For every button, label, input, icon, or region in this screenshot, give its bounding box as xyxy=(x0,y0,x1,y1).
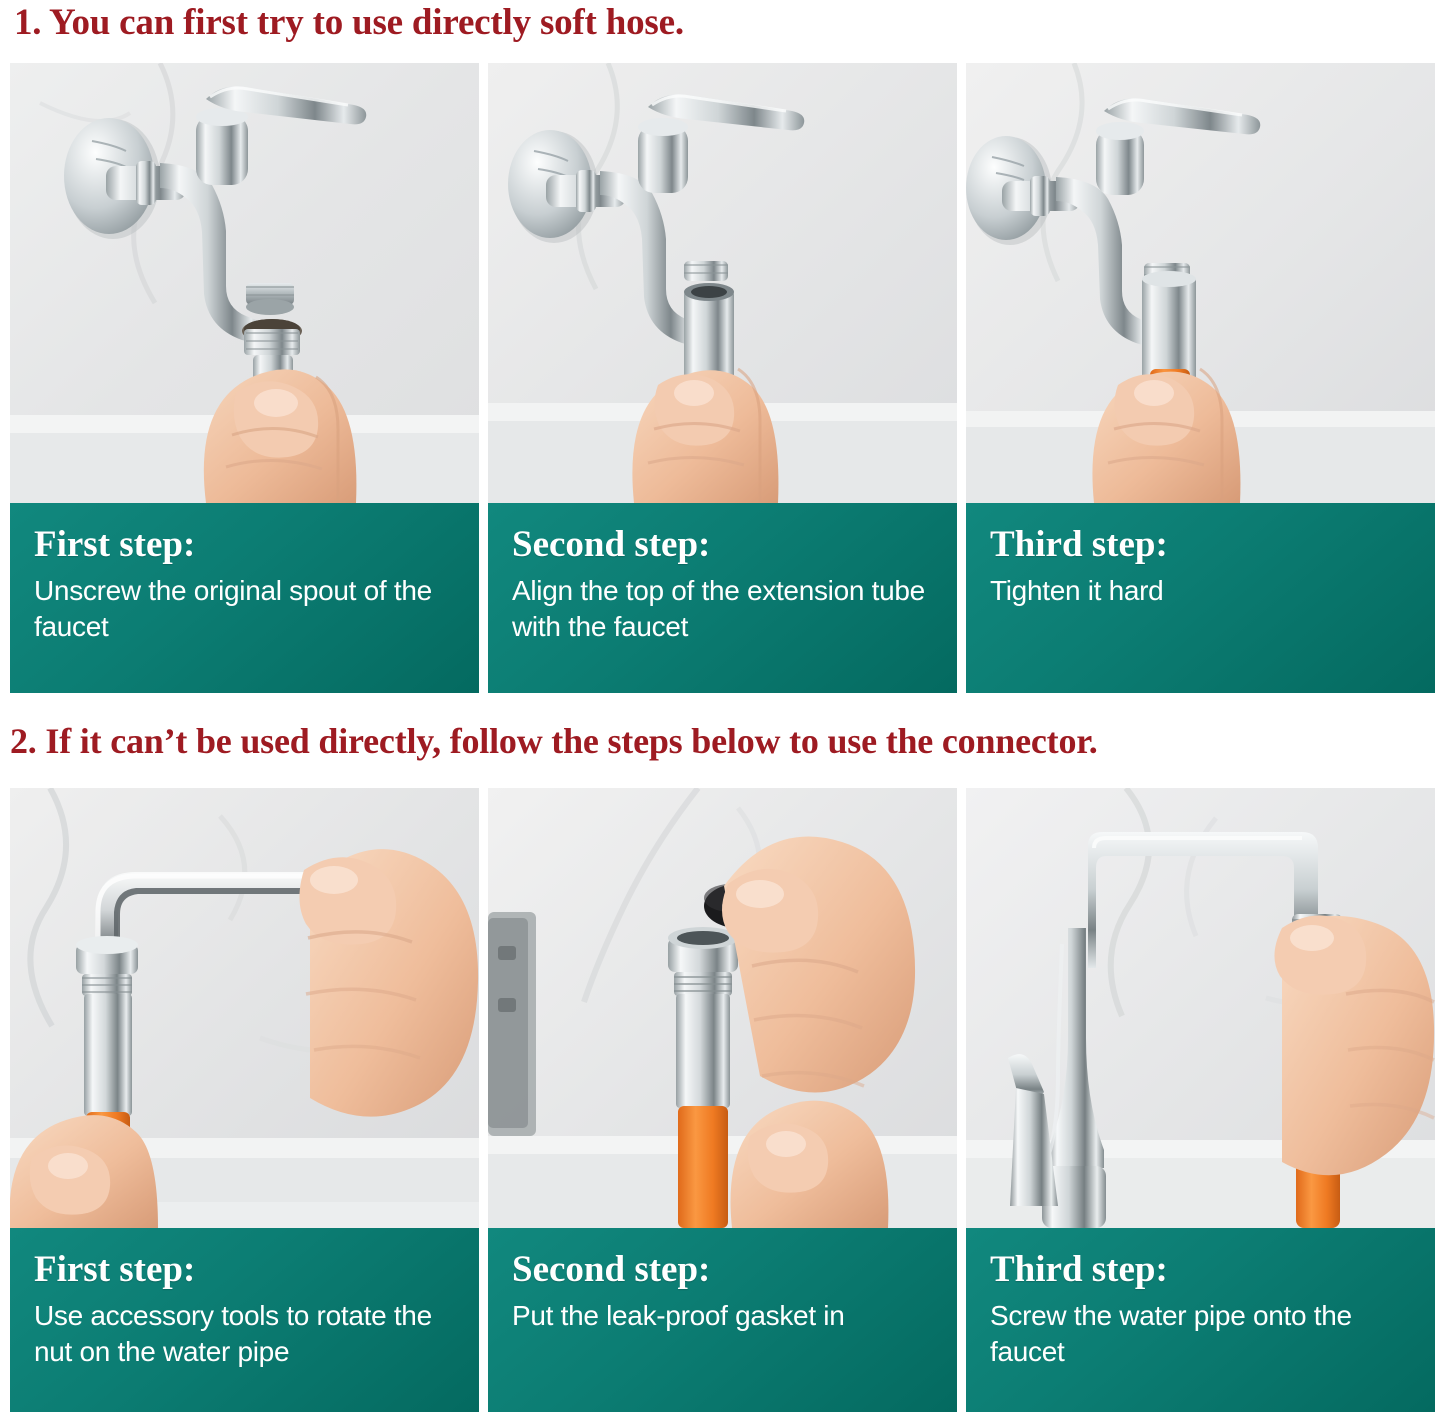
section-2-heading: 2. If it can’t be used directly, follow … xyxy=(10,723,1098,759)
step-body: Put the leak-proof gasket in xyxy=(512,1298,937,1334)
step-photo-leak-proof-gasket xyxy=(488,788,957,1228)
step-caption: Second step: Put the leak-proof gasket i… xyxy=(488,1228,957,1412)
step-body: Screw the water pipe onto the faucet xyxy=(990,1298,1415,1369)
instruction-infographic: 1. You can first try to use directly sof… xyxy=(0,0,1445,1418)
step-card: Second step: Put the leak-proof gasket i… xyxy=(488,788,957,1412)
step-card: Second step: Align the top of the extens… xyxy=(488,63,957,693)
step-card: Third step: Screw the water pipe onto th… xyxy=(966,788,1435,1412)
step-card: First step: Unscrew the original spout o… xyxy=(10,63,479,693)
section-1-heading: 1. You can first try to use directly sof… xyxy=(14,4,684,41)
step-body: Tighten it hard xyxy=(990,573,1415,609)
step-photo-wall-faucet-aerator xyxy=(10,63,479,503)
section-1-step-row: First step: Unscrew the original spout o… xyxy=(10,63,1435,693)
step-photo-hex-wrench-nut xyxy=(10,788,479,1228)
step-card: First step: Use accessory tools to rotat… xyxy=(10,788,479,1412)
step-title: Third step: xyxy=(990,1250,1415,1290)
step-title: First step: xyxy=(34,525,459,565)
step-title: Second step: xyxy=(512,525,937,565)
step-title: First step: xyxy=(34,1250,459,1290)
step-title: Second step: xyxy=(512,1250,937,1290)
step-caption: First step: Use accessory tools to rotat… xyxy=(10,1228,479,1412)
step-body: Unscrew the original spout of the faucet xyxy=(34,573,459,644)
step-photo-kitchen-faucet-screw-pipe xyxy=(966,788,1435,1228)
step-caption: First step: Unscrew the original spout o… xyxy=(10,503,479,693)
step-photo-align-extension-tube xyxy=(488,63,957,503)
step-body: Use accessory tools to rotate the nut on… xyxy=(34,1298,459,1369)
section-2-step-row: First step: Use accessory tools to rotat… xyxy=(10,788,1435,1412)
step-caption: Second step: Align the top of the extens… xyxy=(488,503,957,693)
step-photo-tighten-tube xyxy=(966,63,1435,503)
step-body: Align the top of the extension tube with… xyxy=(512,573,937,644)
step-caption: Third step: Screw the water pipe onto th… xyxy=(966,1228,1435,1412)
step-card: Third step: Tighten it hard xyxy=(966,63,1435,693)
step-caption: Third step: Tighten it hard xyxy=(966,503,1435,693)
step-title: Third step: xyxy=(990,525,1415,565)
